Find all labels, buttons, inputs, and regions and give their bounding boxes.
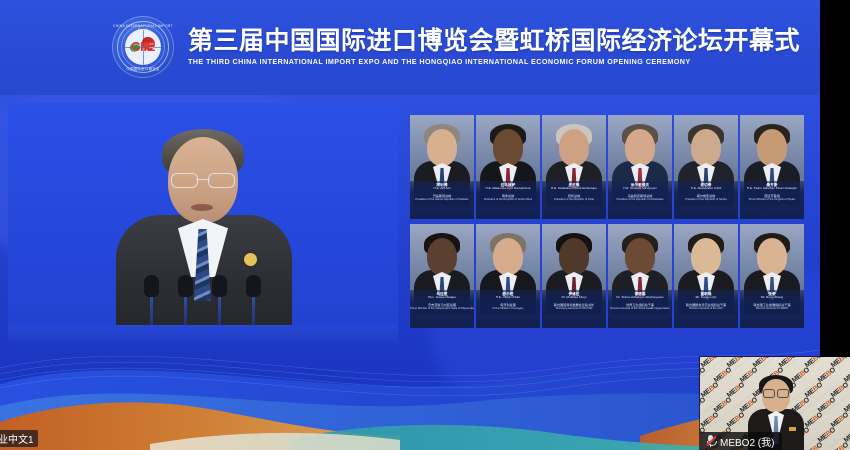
leader-caption: 阿利博H.E. Arif Alvi巴基斯坦总统President of the … [410, 181, 474, 219]
leader-caption: 拉马福萨H.E. Matamela Cyril Ramaphosa南非总统Pre… [476, 181, 540, 219]
leader-portrait-tile: 阿利博H.E. Arif Alvi巴基斯坦总统President of the … [410, 115, 474, 219]
self-view-label: MEBO2 (我) [700, 432, 782, 450]
audio-channel-label: 业中文1 [0, 430, 38, 447]
leader-name-english: Hon. James Marape [410, 296, 474, 300]
podium [8, 325, 398, 343]
leader-portrait-tile: 董明珠Mr. Dongyu Qu联合国粮食及农业组织总干事Director-Ge… [674, 224, 738, 328]
leader-name-english: H.E. Pedro Sánchez Pérez-Castejón [740, 187, 804, 191]
leader-portrait-tile: 米尔塹俄夫H.E. Shavkat Mirziyoyev乌兹别克斯坦总统Pres… [608, 115, 672, 219]
leader-portrait-tile: 伊维拉Dr. Mukhisa Kituyi联合国贸易和发展会议秘书长Secret… [542, 224, 606, 328]
leader-title-english: Prime Minister of the Independent State … [410, 307, 474, 311]
leader-portrait-tile: 桑齐斯H.E. Pedro Sánchez Pérez-Castejón西班牙首… [740, 115, 804, 219]
leader-caption: 桑齐斯H.E. Pedro Sánchez Pérez-Castejón西班牙首… [740, 181, 804, 219]
leader-caption: 皮尼雅H.E. Sebastian Piñera Echenique智利总统Pr… [542, 181, 606, 219]
leader-title-english: Prime Minister of the Kingdom of Spain [740, 198, 804, 202]
emblem-arc-bottom-text: 中国国际进口博览会 [112, 66, 174, 71]
leader-portrait-tile: 武切奇H.E. Aleksandar Vučić塞尔维亚总统President … [674, 115, 738, 219]
emblem-ciie-text: CIIE [112, 39, 174, 54]
speaker-lapel-badge [244, 253, 257, 266]
video-conference-screen: CHINA INTERNATIONAL IMPORT EXPO CIIE 中国国… [0, 0, 850, 450]
leader-portrait-tile: 欧尔班H.E. Viktor Orbán匈牙利总理Prime Minister … [476, 224, 540, 328]
leader-name-english: H.E. Viktor Orbán [476, 296, 540, 300]
leader-name-english: Dr. Tedros Adhanom Ghebreyesus [608, 296, 672, 300]
leader-title-english: President of the Republic of Uzbekistan [608, 198, 672, 202]
participant-name: MEBO2 (我) [720, 434, 774, 449]
self-view-thumbnail[interactable]: MEBOMEBOMEBOMEBOMEBOMEBOMEBOMEBOMEBOMEBO… [700, 357, 850, 450]
leader-title-english: Secretary-General of UNCTAD [542, 307, 606, 311]
leader-title-english: President of the Republic of Chile [542, 198, 606, 202]
leader-name-english: H.E. Matamela Cyril Ramaphosa [476, 187, 540, 191]
leader-name-english: Mr. Rong Zhang [740, 296, 804, 300]
main-speaker-video[interactable] [8, 103, 398, 343]
leader-caption: 马拉班Hon. James Marape巴布亚新几内亚总理Prime Minis… [410, 290, 474, 328]
microphone-muted-icon[interactable] [706, 435, 715, 447]
leader-portrait-tile: 张荣Mr. Rong Zhang联合国工业发展组织总干事Director-Gen… [740, 224, 804, 328]
leader-caption: 欧尔班H.E. Viktor Orbán匈牙利总理Prime Minister … [476, 290, 540, 328]
banner-title-english: THE THIRD CHINA INTERNATIONAL IMPORT EXP… [188, 57, 800, 66]
leader-caption: 武切奇H.E. Aleksandar Vučić塞尔维亚总统President … [674, 181, 738, 219]
leader-caption: 张荣Mr. Rong Zhang联合国工业发展组织总干事Director-Gen… [740, 290, 804, 328]
leader-portrait-tile: 谭德塞Dr. Tedros Adhanom Ghebreyesus世界卫生组织总… [608, 224, 672, 328]
leader-portrait-tile: 皮尼雅H.E. Sebastian Piñera Echenique智利总统Pr… [542, 115, 606, 219]
leader-title-english: Director-General of UNIDO [740, 307, 804, 311]
emblem-arc-top-text: CHINA INTERNATIONAL IMPORT EXPO [112, 24, 174, 32]
leader-title-english: President of the Republic of South Afric… [476, 198, 540, 202]
leader-title-english: President of the Islamic Republic of Pak… [410, 198, 474, 202]
banner-title-chinese: 第三届中国国际进口博览会暨虹桥国际经济论坛开幕式 [188, 28, 800, 54]
leader-caption: 伊维拉Dr. Mukhisa Kituyi联合国贸易和发展会议秘书长Secret… [542, 290, 606, 328]
leader-name-english: H.E. Shavkat Mirziyoyev [608, 187, 672, 191]
leader-name-english: Dr. Mukhisa Kituyi [542, 296, 606, 300]
backdrop-logo-text: MEBO [804, 442, 824, 450]
leader-portrait-tile: 马拉班Hon. James Marape巴布亚新几内亚总理Prime Minis… [410, 224, 474, 328]
leader-name-english: H.E. Arif Alvi [410, 187, 474, 191]
leader-portrait-tile: 拉马福萨H.E. Matamela Cyril Ramaphosa南非总统Pre… [476, 115, 540, 219]
leader-caption: 董明珠Mr. Dongyu Qu联合国粮食及农业组织总干事Director-Ge… [674, 290, 738, 328]
leader-title-english: Director-General of the World Health Org… [608, 307, 672, 311]
leader-caption: 谭德塞Dr. Tedros Adhanom Ghebreyesus世界卫生组织总… [608, 290, 672, 328]
leader-title-english: Director-General of the FAO [674, 307, 738, 311]
leader-title-english: President of the Republic of Serbia [674, 198, 738, 202]
backdrop-logo-text: MEBO [700, 367, 707, 385]
leader-name-english: H.E. Aleksandar Vučić [674, 187, 738, 191]
leader-caption: 米尔塹俄夫H.E. Shavkat Mirziyoyev乌兹别克斯坦总统Pres… [608, 181, 672, 219]
backdrop-logo-text: MEBO [700, 397, 707, 415]
backdrop-logo-text: MEBO [830, 442, 850, 450]
event-banner: CHINA INTERNATIONAL IMPORT EXPO CIIE 中国国… [0, 0, 820, 95]
shared-screen-content[interactable]: CHINA INTERNATIONAL IMPORT EXPO CIIE 中国国… [0, 0, 820, 450]
leader-name-english: H.E. Sebastian Piñera Echenique [542, 187, 606, 191]
leader-portrait-grid: 阿利博H.E. Arif Alvi巴基斯坦总统President of the … [410, 115, 810, 328]
ciie-emblem-icon: CHINA INTERNATIONAL IMPORT EXPO CIIE 中国国… [112, 16, 174, 78]
leader-name-english: Mr. Dongyu Qu [674, 296, 738, 300]
leader-title-english: Prime Minister of Hungary [476, 307, 540, 311]
